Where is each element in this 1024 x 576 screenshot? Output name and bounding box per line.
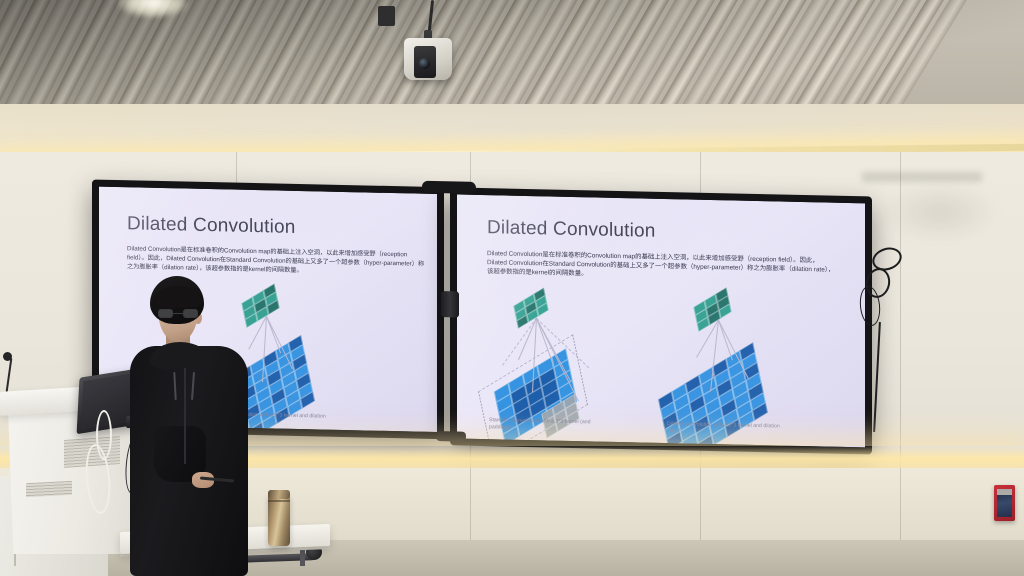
white-cable-loop [96,410,112,460]
display-top-mount [422,181,476,194]
ceiling-mount-box [378,6,395,26]
podium-vent [26,481,72,497]
projector-lens-icon [419,58,430,69]
right-dilated-convolution-diagram [653,295,853,433]
right-display-panel[interactable]: Dilated Convolution Dilated Convolution是… [450,187,872,454]
output-feature-map [693,287,731,331]
presenter-hoodie-zip [184,368,186,464]
right-screen: Dilated Convolution Dilated Convolution是… [457,194,865,447]
right-dilated-caption: Dilated Convolution with a 3*3 kernel an… [667,421,789,438]
right-slide-title: Dilated Convolution [487,217,656,243]
output-feature-map [513,288,548,329]
right-standard-caption: Standard Convolution with a 3*3 kernel (… [489,417,607,434]
slatted-ceiling [0,0,1024,118]
presenter [128,276,256,576]
wall-shadow-band [862,172,982,182]
thermos-ring [268,500,290,502]
left-slide-body: Dilated Convolution是在标准卷积的Convolution ma… [127,245,427,278]
left-slide-title: Dilated Convolution [127,213,296,239]
lecture-hall-scene: Dilated Convolution Dilated Convolution是… [0,0,1024,576]
ceiling-lamp-glow [118,0,188,18]
fire-alarm-call-point[interactable] [994,485,1015,521]
microphone-head-icon [3,352,12,361]
fire-alarm-label [997,489,1012,495]
presenter-glasses-icon [158,309,198,318]
display-bottom-mount [436,431,466,442]
thermos-cap[interactable] [268,490,290,499]
display-center-bracket [441,291,459,317]
right-slide-body: Dilated Convolution是在标准卷积的Convolution ma… [487,249,837,284]
right-standard-convolution-diagram [479,295,659,427]
